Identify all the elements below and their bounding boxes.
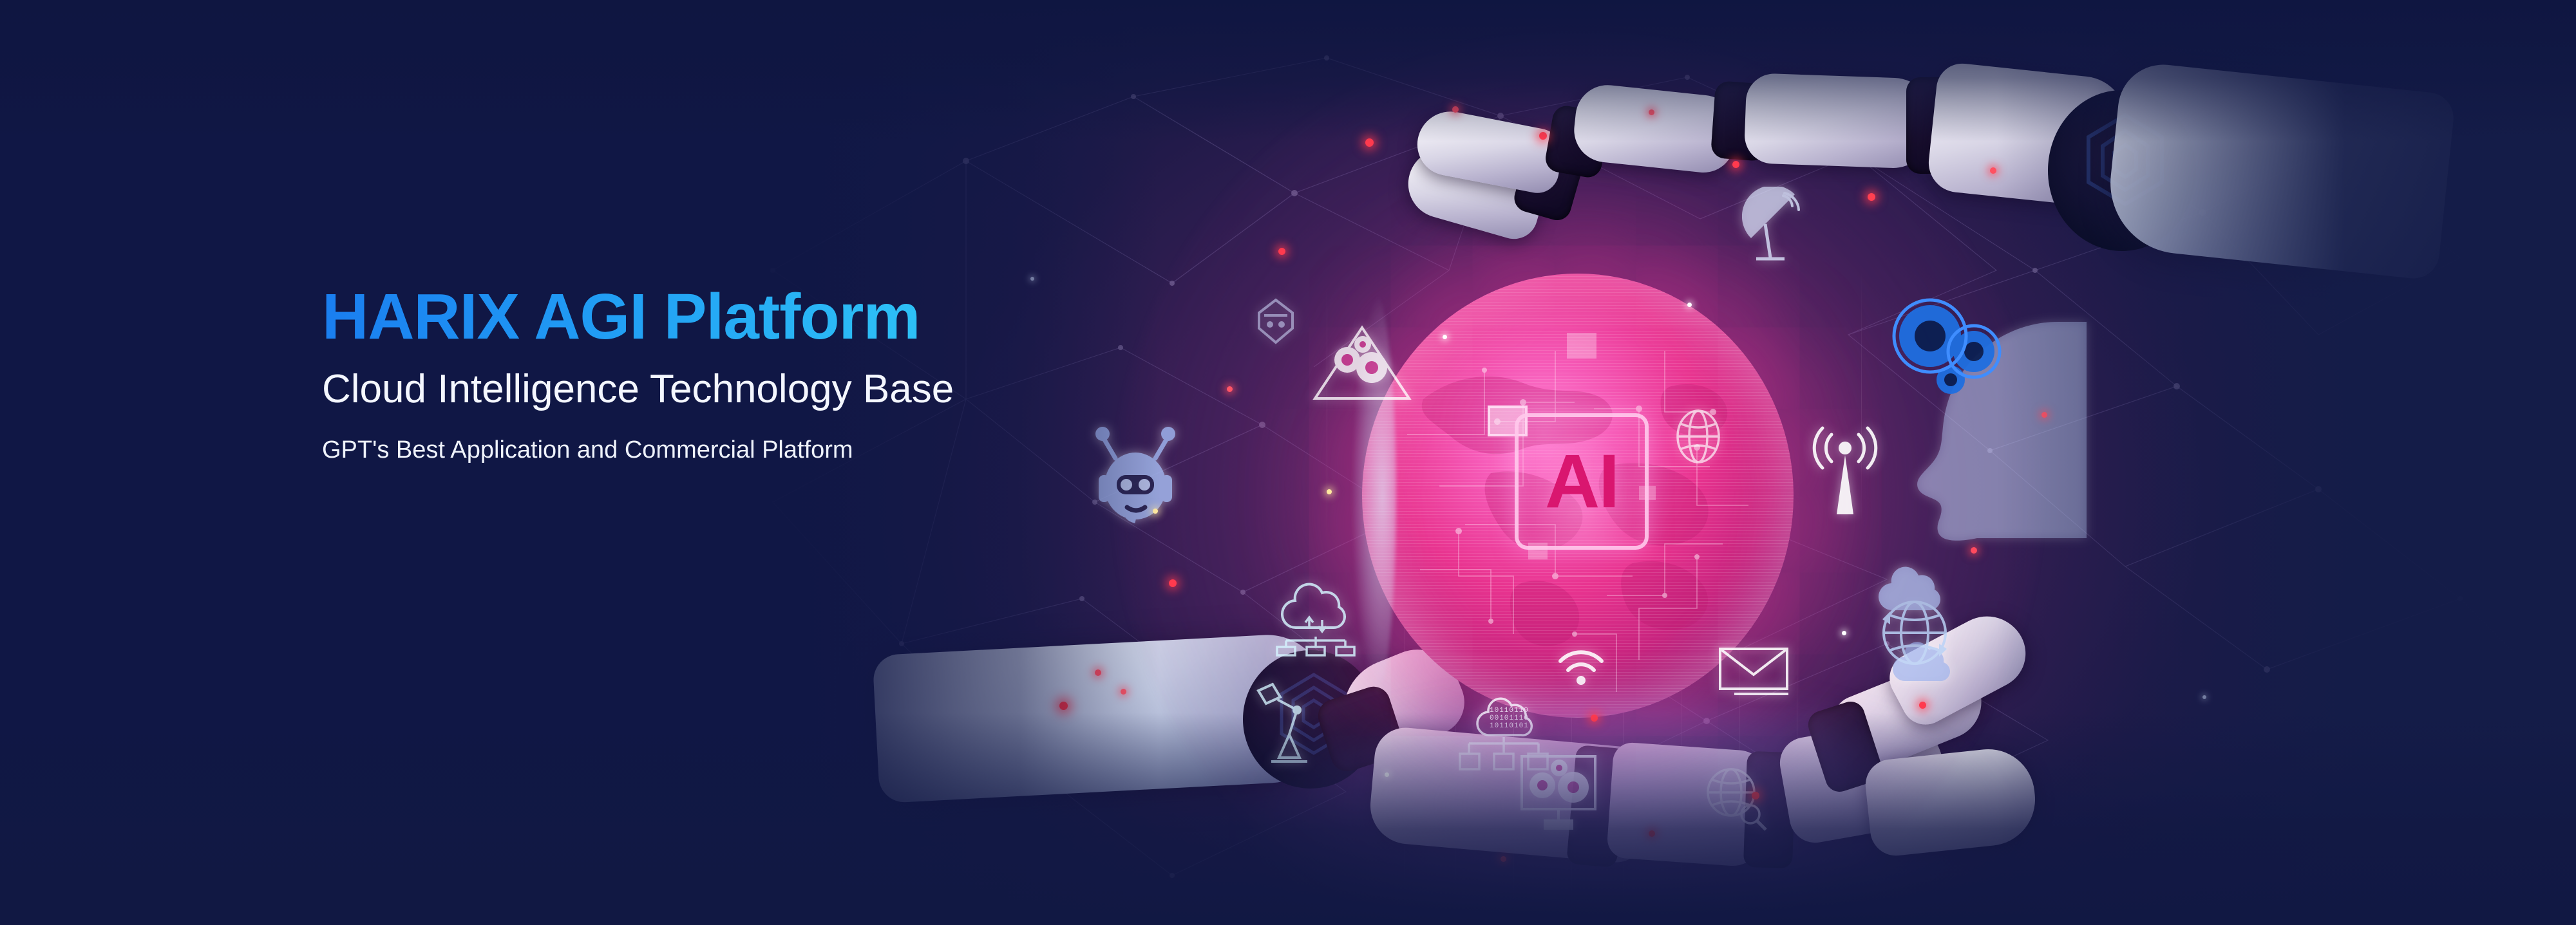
envelope-icon: [1716, 644, 1794, 699]
globe-wire-icon: [1671, 406, 1725, 467]
gear-blue-icon: [1884, 290, 2012, 406]
hero-text-block: HARIX AGI Platform Cloud Intelligence Te…: [322, 283, 1224, 464]
top-vignette: [0, 0, 2576, 142]
page-tagline: GPT's Best Application and Commercial Pl…: [322, 437, 1224, 464]
gear-platform-icon: [1307, 319, 1417, 406]
ai-badge: AI: [1515, 413, 1649, 550]
globe-cloud-icon: [1858, 560, 1971, 689]
bottom-vignette: [0, 713, 2576, 925]
hero-banner: AI: [0, 0, 2576, 925]
page-title: HARIX AGI Platform: [322, 283, 1224, 351]
page-subtitle: Cloud Intelligence Technology Base: [322, 368, 1224, 411]
drone-icon: [1253, 296, 1299, 346]
cloud-network-icon: [1272, 570, 1359, 657]
wifi-icon: [1555, 647, 1607, 687]
ai-badge-label: AI: [1545, 444, 1618, 519]
satellite-dish-icon: [1742, 187, 1813, 264]
